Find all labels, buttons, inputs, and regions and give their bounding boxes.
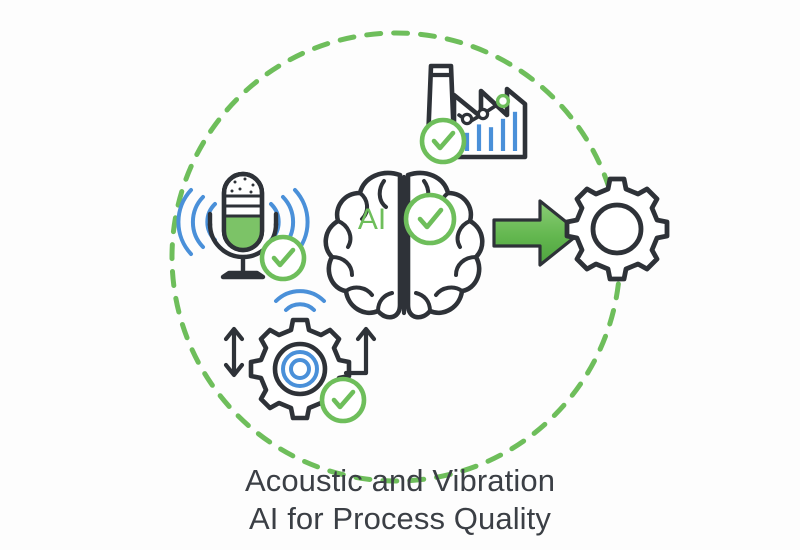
vibration-arrow-left-icon — [226, 329, 242, 375]
check-badge-icon — [262, 237, 304, 279]
microphone-icon[interactable] — [178, 174, 307, 279]
brain-icon[interactable]: AI — [326, 173, 483, 317]
illustration-canvas: AI Acoustic and Vibration AI for — [0, 0, 800, 550]
check-badge-icon — [422, 120, 464, 162]
mic-base — [223, 273, 263, 277]
factory-chart-icon[interactable] — [422, 66, 525, 162]
output-gear-hub — [593, 205, 641, 253]
scene-svg: AI — [0, 0, 800, 550]
check-badge-icon — [322, 379, 364, 421]
gear-icon[interactable] — [567, 179, 667, 279]
signal-waves-icon — [276, 291, 324, 310]
brain-ai-label: AI — [358, 203, 386, 236]
vibration-gear-icon[interactable] — [226, 291, 374, 421]
check-badge-icon — [406, 195, 454, 243]
